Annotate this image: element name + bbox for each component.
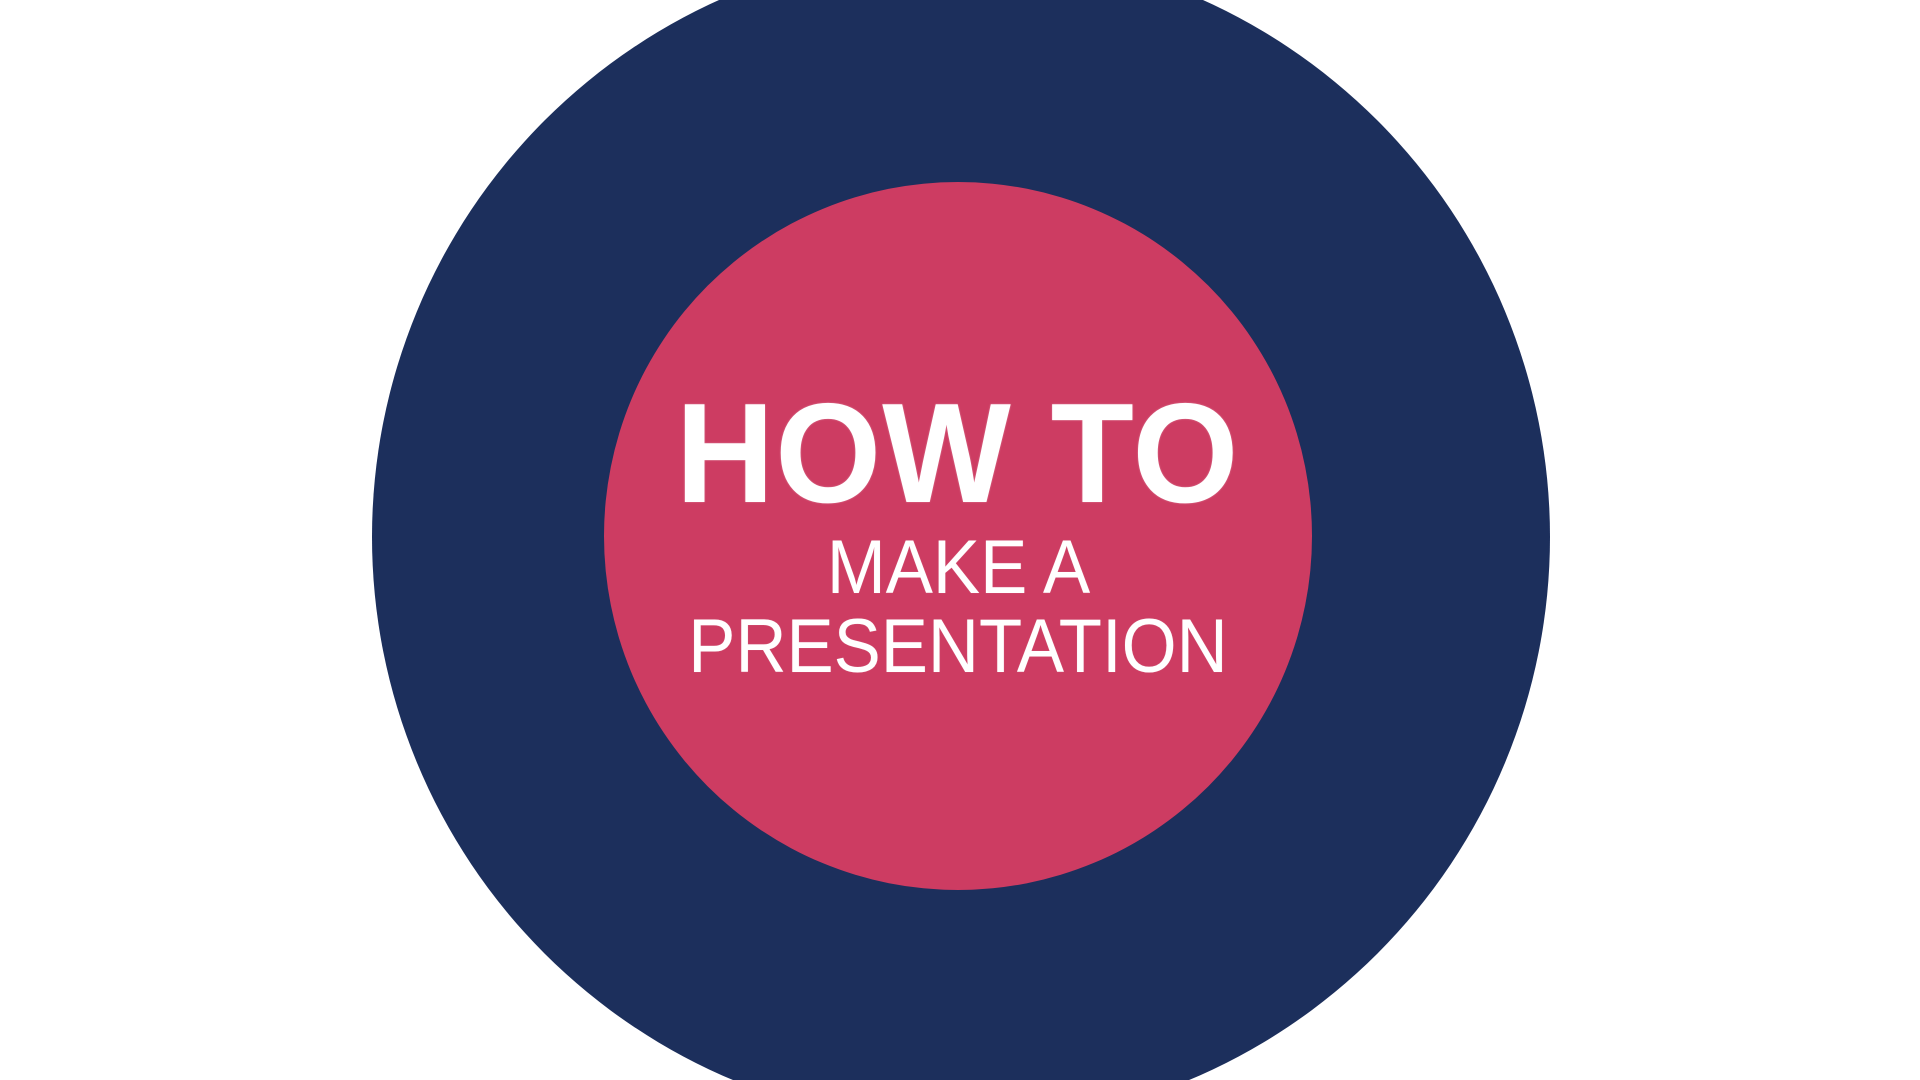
presentation-slide: HOW TO MAKE A PRESENTATION xyxy=(0,0,1920,1080)
slide-headline: HOW TO xyxy=(676,386,1240,522)
title-block: HOW TO MAKE A PRESENTATION xyxy=(604,182,1312,890)
slide-subtitle-line-2: PRESENTATION xyxy=(688,608,1227,686)
slide-subtitle-line-1: MAKE A xyxy=(826,529,1089,607)
